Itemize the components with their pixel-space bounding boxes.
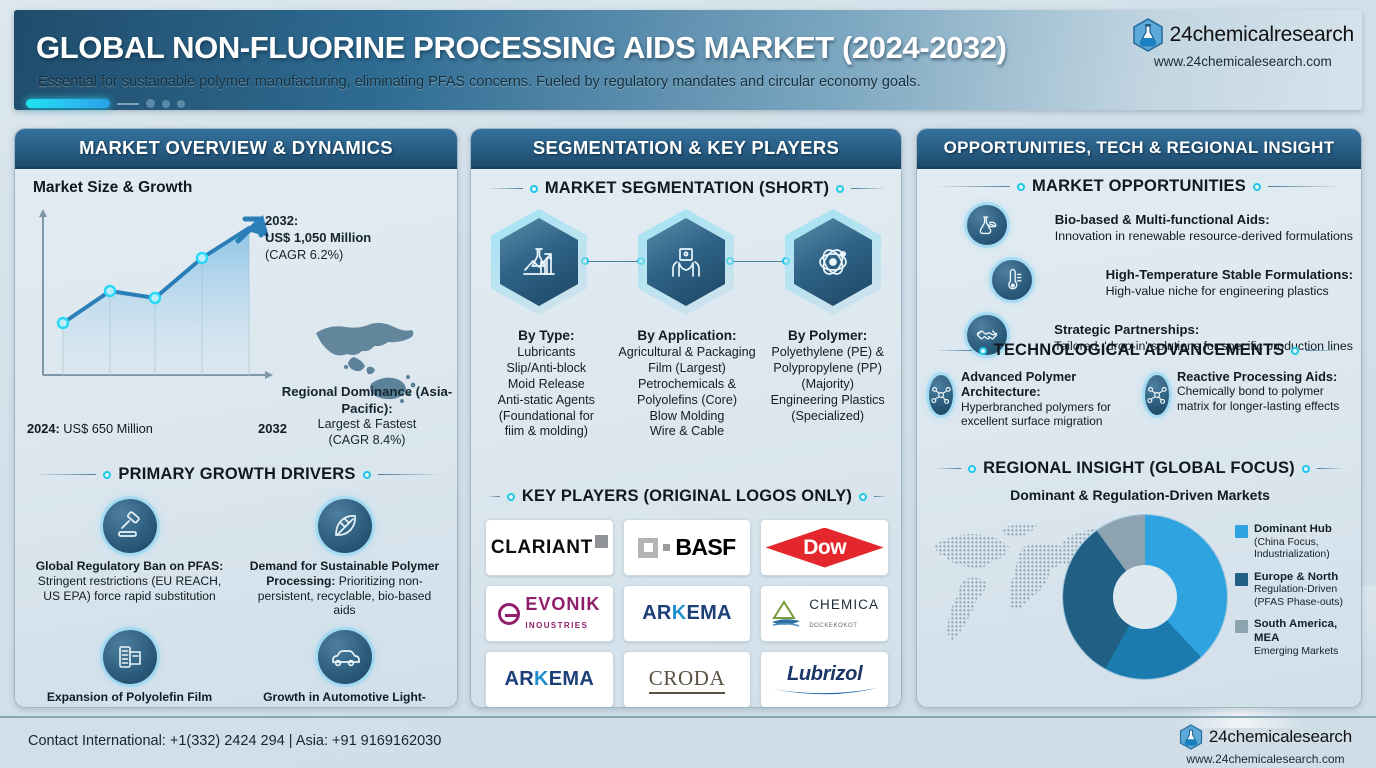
chemica-logo-text: CHEMICA [809, 597, 879, 612]
segmentation-node-row [481, 209, 893, 319]
section-divider-opportunities: MARKET OPPORTUNITIES [925, 177, 1353, 196]
segment-line: Engineering Plastics [758, 393, 897, 409]
segment-line: (Specialized) [758, 409, 897, 425]
divider-line-right [874, 496, 887, 497]
divider-ring-right-icon [859, 493, 867, 501]
opportunity-title: Strategic Partnerships: [1054, 322, 1353, 339]
header-brand-logo: 24chemicalresearch www.24chemicalesearch… [1132, 18, 1354, 69]
progress-dot-2 [162, 100, 170, 108]
car-icon [318, 630, 372, 684]
divider-line-left [487, 188, 523, 189]
segmentation-columns: By Type: Lubricants Slip/Anti-block Moid… [477, 327, 897, 440]
driver-item: Growth in Automotive Light-weighting: Hi… [240, 626, 449, 708]
key-players-logo-grid: CLARIANT BASF Dow EVONIK INOUSTRIES [485, 519, 889, 708]
dow-logo-text: Dow [803, 536, 846, 560]
evonik-logo-text: EVONIK [525, 594, 600, 614]
divider-line-left [935, 186, 1010, 187]
legend-item: South America, MEA Emerging Markets [1235, 618, 1362, 658]
divider-ring-right-icon [363, 471, 371, 479]
technology-item: Advanced Polymer Architecture:Hyperbranc… [929, 369, 1137, 428]
legend-label: South America, MEA [1254, 618, 1362, 645]
segment-heading: By Type: [477, 327, 616, 344]
film-roll-icon [103, 630, 157, 684]
progress-dot-3 [177, 100, 185, 108]
arkema-logo-text: ARKEMA [505, 668, 595, 691]
technology-text: Chemically bond to polymer matrix for lo… [1177, 384, 1339, 412]
divider-line-left [935, 468, 961, 469]
divider-line-right [1306, 350, 1343, 351]
region-line-1: Largest & Fastest [277, 417, 457, 433]
divider-ring-right-icon [1302, 465, 1310, 473]
divider-ring-left-icon [979, 347, 987, 355]
segmentation-column: By Application: Agricultural & Packaging… [618, 327, 757, 440]
page-footer: Contact International: +1(332) 2424 294 … [0, 716, 1376, 768]
basf-dot-icon [663, 544, 670, 551]
section-divider-technology: TECHNOLOGICAL ADVANCEMENTS [925, 341, 1353, 360]
legend-swatch [1235, 525, 1248, 538]
logo-card-dow[interactable]: Dow [760, 519, 889, 576]
footer-contact: Contact International: +1(332) 2424 294 … [28, 733, 441, 749]
technology-text: Hyperbranched polymers for excellent sur… [961, 400, 1111, 428]
segment-line: Petrochemicals & [618, 377, 757, 393]
technology-item: Reactive Processing Aids:Chemically bond… [1145, 369, 1353, 428]
technology-title: Advanced Polymer Architecture: [961, 369, 1137, 400]
arkema-logo-text: ARKEMA [642, 602, 732, 625]
progress-bar [26, 99, 110, 108]
segment-line: Anti-static Agents [477, 393, 616, 409]
panel-title-right: OPPORTUNITIES, TECH & REGIONAL INSIGHT [944, 138, 1335, 158]
logo-card-clariant[interactable]: CLARIANT [485, 519, 614, 576]
logo-card-croda[interactable]: CRODA [623, 651, 752, 708]
panel-market-overview: MARKET OVERVIEW & DYNAMICS Market Size &… [14, 128, 458, 708]
panel-header-right: OPPORTUNITIES, TECH & REGIONAL INSIGHT [917, 129, 1361, 169]
segmentation-node-type [491, 209, 587, 315]
logo-card-basf[interactable]: BASF [623, 519, 752, 576]
logo-card-evonik[interactable]: EVONIK INOUSTRIES [485, 585, 614, 642]
panel-title-left: MARKET OVERVIEW & DYNAMICS [79, 137, 393, 159]
chart-end-annotation: 2032: US$ 1,050 Million (CAGR 6.2%) [265, 213, 415, 263]
technology-list: Advanced Polymer Architecture:Hyperbranc… [929, 369, 1353, 428]
node-connector-1 [586, 261, 641, 262]
legend-swatch [1235, 620, 1248, 633]
section-divider-segmentation: MARKET SEGMENTATION (SHORT) [477, 179, 897, 198]
regional-section-title: REGIONAL INSIGHT (GLOBAL FOCUS) [983, 459, 1295, 478]
progress-connector [117, 103, 139, 105]
lubrizol-swoosh-icon [771, 686, 879, 696]
chemica-logo-sub: DOCKEKOKOT [809, 623, 857, 629]
divider-ring-left-icon [103, 471, 111, 479]
market-growth-chart [25, 203, 285, 403]
divider-line-left [487, 496, 500, 497]
regional-chart-subtitle: Dominant & Regulation-Driven Markets [917, 487, 1362, 503]
legend-label: Europe & North [1254, 571, 1343, 585]
divider-ring-right-icon [1253, 183, 1261, 191]
chart-axis-start-label: 2024: US$ 650 Million [27, 421, 153, 436]
segment-line: Lubricants [477, 345, 616, 361]
divider-ring-left-icon [507, 493, 515, 501]
segmentation-node-polymer [785, 209, 881, 315]
flask-hexagon-icon [1132, 18, 1164, 52]
clariant-logo-text: CLARIANT [491, 537, 593, 559]
divider-ring-left-icon [968, 465, 976, 473]
brand-url: www.24chemicalesearch.com [1132, 54, 1354, 69]
gavel-icon [103, 499, 157, 553]
divider-line-right [1317, 468, 1343, 469]
chart-end-value: US$ 1,050 Million [265, 230, 415, 247]
opportunity-text: Innovation in renewable resource-derived… [1055, 229, 1353, 243]
molecule-icon [1145, 375, 1169, 415]
technology-title: Reactive Processing Aids: [1177, 369, 1353, 384]
page-title: GLOBAL NON-FLUORINE PROCESSING AIDS MARK… [36, 30, 1007, 66]
segmentation-section-title: MARKET SEGMENTATION (SHORT) [545, 179, 829, 198]
croda-logo-text: CRODA [649, 666, 726, 694]
page-subtitle: Essential for sustainable polymer manufa… [38, 74, 921, 90]
basf-square-icon [638, 538, 658, 558]
clariant-square-icon [595, 535, 608, 548]
segment-line: Slip/Anti-block [477, 361, 616, 377]
technology-section-title: TECHNOLOGICAL ADVANCEMENTS [994, 341, 1285, 360]
legend-item: Europe & North Regulation-Driven (PFAS P… [1235, 571, 1362, 610]
legend-swatch [1235, 573, 1248, 586]
divider-line-left [935, 350, 972, 351]
divider-ring-left-icon [1017, 183, 1025, 191]
segment-line: Polyolefins (Core) [618, 393, 757, 409]
legend-sub: Regulation-Driven [1254, 584, 1337, 595]
opportunity-title: Bio-based & Multi-functional Aids: [1055, 212, 1353, 229]
logo-card-lubrizol[interactable]: Lubrizol [760, 651, 889, 708]
opportunities-section-title: MARKET OPPORTUNITIES [1032, 177, 1246, 196]
opportunity-item: High-Temperature Stable Formulations:Hig… [929, 260, 1353, 306]
divider-ring-right-icon [1291, 347, 1299, 355]
legend-sub: Industrialization) [1254, 549, 1330, 560]
evonik-circle-icon [498, 603, 520, 625]
growth-drivers-grid: Global Regulatory Ban on PFAS: Stringent… [25, 495, 449, 708]
chart-end-cagr: (CAGR 6.2%) [265, 247, 343, 262]
section-divider-players: KEY PLAYERS (ORIGINAL LOGOS ONLY) [477, 487, 897, 506]
divider-ring-right-icon [836, 185, 844, 193]
panel-header-left: MARKET OVERVIEW & DYNAMICS [15, 129, 457, 169]
flask-hexagon-icon [1179, 724, 1203, 750]
divider-line-right [1268, 186, 1343, 187]
bio-flask-icon [967, 205, 1007, 245]
evonik-logo-sub: INOUSTRIES [525, 621, 588, 630]
segment-heading: By Application: [618, 327, 757, 344]
chart-title: Market Size & Growth [33, 179, 192, 197]
axis-start-value: US$ 650 Million [60, 421, 153, 436]
segment-line: Wire & Cable [618, 424, 757, 440]
regional-chart: Dominant Hub (China Focus, Industrializa… [923, 507, 1357, 697]
divider-line-left [33, 474, 96, 475]
driver-item: Demand for Sustainable Polymer Processin… [240, 495, 449, 622]
leaf-icon [318, 499, 372, 553]
segment-line: (Majority) [758, 377, 897, 393]
drivers-section-title: PRIMARY GROWTH DRIVERS [118, 465, 355, 484]
driver-text: Stringent restrictions (EU REACH, US EPA… [38, 574, 221, 603]
logo-card-arkema-2[interactable]: ARKEMA [485, 651, 614, 708]
opportunity-text: High-value niche for engineering plastic… [1106, 284, 1329, 298]
segment-line: Film (Largest) [618, 361, 757, 377]
node-connector-2 [731, 261, 786, 262]
logo-card-arkema-1[interactable]: ARKEMA [623, 585, 752, 642]
section-divider-regional: REGIONAL INSIGHT (GLOBAL FOCUS) [925, 459, 1353, 478]
panel-title-middle: SEGMENTATION & KEY PLAYERS [533, 137, 839, 159]
divider-line-right [851, 188, 887, 189]
legend-sub: (China Focus, [1254, 537, 1319, 548]
molecule-icon [929, 375, 953, 415]
segment-line: Agricultural & Packaging [618, 345, 757, 361]
chart-end-year: 2032: [265, 213, 415, 230]
legend-label: Dominant Hub [1254, 523, 1332, 537]
dow-diamond-icon: Dow [766, 528, 884, 568]
basf-logo-text: BASF [675, 534, 735, 561]
opportunity-title: High-Temperature Stable Formulations: [1106, 267, 1353, 284]
segment-line: Polypropylene (PP) [758, 361, 897, 377]
segmentation-node-application [638, 209, 734, 315]
footer-brand-url: www.24chemicalesearch.com [1179, 752, 1352, 766]
segment-line: (Foundational for [477, 409, 616, 425]
legend-item: Dominant Hub (China Focus, Industrializa… [1235, 523, 1362, 562]
segment-line: Blow Molding [618, 409, 757, 425]
divider-ring-left-icon [530, 185, 538, 193]
thermometer-icon [992, 260, 1032, 300]
legend-sub: Emerging Markets [1254, 646, 1338, 657]
segment-heading: By Polymer: [758, 327, 897, 344]
segment-line: Moid Release [477, 377, 616, 393]
panel-segmentation: SEGMENTATION & KEY PLAYERS MARKET SEGMEN… [470, 128, 902, 708]
driver-bold: Global Regulatory Ban on PFAS: [36, 559, 223, 573]
segmentation-column: By Type: Lubricants Slip/Anti-block Moid… [477, 327, 616, 440]
lubrizol-logo-text: Lubrizol [787, 663, 862, 685]
axis-start-year: 2024: [27, 421, 60, 436]
logo-card-chemica[interactable]: CHEMICA DOCKEKOKOT [760, 585, 889, 642]
segment-line: fiim & molding) [477, 424, 616, 440]
section-divider-drivers: PRIMARY GROWTH DRIVERS [23, 465, 451, 484]
regional-donut-chart [1063, 515, 1227, 679]
region-line-2: (CAGR 8.4%) [277, 433, 457, 449]
opportunity-item: Bio-based & Multi-functional Aids:Innova… [929, 205, 1353, 251]
region-title: Regional Dominance [282, 384, 412, 399]
players-section-title: KEY PLAYERS (ORIGINAL LOGOS ONLY) [522, 487, 852, 506]
progress-indicator [26, 99, 185, 108]
progress-dot-1 [146, 99, 155, 108]
driver-item: Expansion of Polyolefin Film Production:… [25, 626, 234, 708]
legend-sub: (PFAS Phase-outs) [1254, 597, 1343, 608]
panel-opportunities: OPPORTUNITIES, TECH & REGIONAL INSIGHT M… [916, 128, 1362, 708]
driver-item: Global Regulatory Ban on PFAS: Stringent… [25, 495, 234, 622]
segment-line: Polyethylene (PE) & [758, 345, 897, 361]
regional-dominance-note: Regional Dominance (Asia-Pacific): Large… [277, 384, 457, 449]
divider-line-right [378, 474, 441, 475]
segmentation-column: By Polymer: Polyethylene (PE) & Polyprop… [758, 327, 897, 440]
regional-chart-legend: Dominant Hub (China Focus, Industrializa… [1235, 523, 1362, 667]
panel-header-middle: SEGMENTATION & KEY PLAYERS [471, 129, 901, 169]
footer-brand-name: 24chemicalesearch [1209, 727, 1352, 747]
chemica-mark-icon [770, 600, 804, 628]
brand-name: 24chemicalresearch [1170, 23, 1354, 47]
footer-brand-logo: 24chemicalesearch www.24chemicalesearch.… [1179, 724, 1352, 766]
